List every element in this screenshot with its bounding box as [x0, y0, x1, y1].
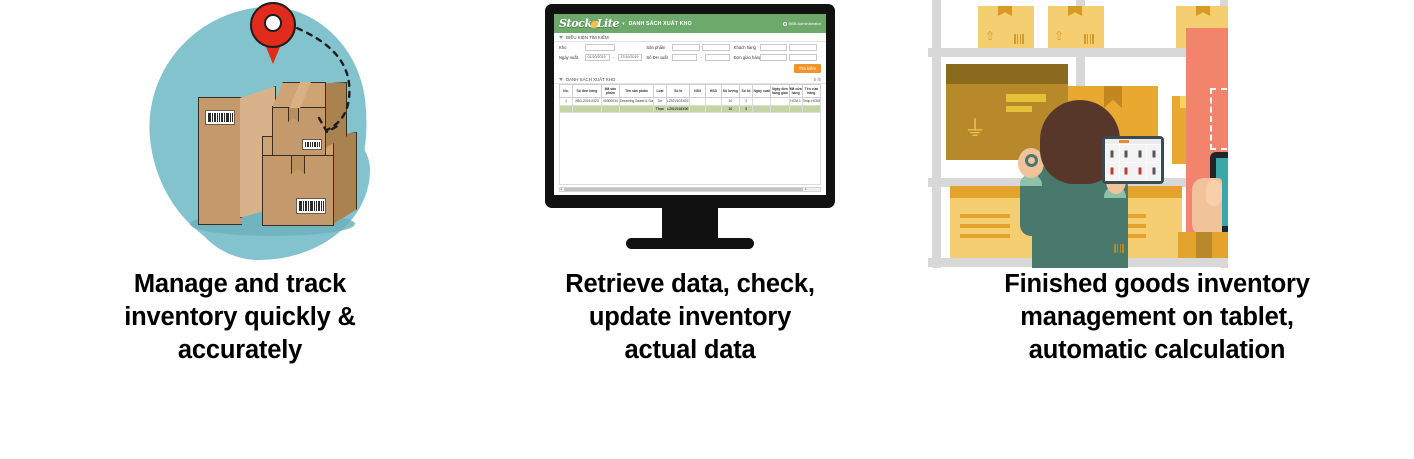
barcode-icon [205, 110, 235, 125]
cell-name [620, 105, 654, 113]
fragile-up-icon: ⇧ [1054, 30, 1064, 42]
barcode-icon [296, 198, 326, 214]
app-page-title: DANH SÁCH XUẤT KHO [629, 21, 692, 27]
location-pin-icon [250, 2, 296, 64]
illustration-boxes-with-location-pin [0, 0, 480, 268]
cell-hsd [706, 98, 722, 106]
caption-line: update inventory [484, 301, 896, 334]
feature-card-finished-goods: ⇧ ⇧ ⏚ [900, 0, 1414, 459]
range-separator: ~ [613, 55, 615, 60]
results-grid: No. Số đơn hàng Mã sản phẩm Tên sản phẩm… [554, 84, 826, 185]
monitor-bezel: StockLite ▾ DANH SÁCH XUẤT KHO BBB Admin… [545, 4, 835, 208]
barcode-icon [1114, 244, 1124, 253]
dashed-path-icon [283, 18, 393, 148]
caption-line: Retrieve data, check, [484, 268, 896, 301]
list-panel-header[interactable]: DANH SÁCH XUẤT KHO 5 /5 [554, 75, 826, 84]
illustration-monitor: StockLite ▾ DANH SÁCH XUẤT KHO BBB Admin… [480, 0, 900, 268]
user-menu[interactable]: BBB Administrator [783, 21, 821, 26]
tablet-product-cell[interactable] [1120, 145, 1133, 162]
feature-caption: Finished goods inventory management on t… [900, 268, 1414, 367]
col-header[interactable]: Mã cửa hàng [789, 85, 802, 98]
tablet-product-cell[interactable] [1147, 145, 1160, 162]
field-label: Kho [559, 45, 583, 50]
col-header[interactable]: HSD [706, 85, 722, 98]
caption-line: actual data [484, 334, 896, 367]
cell-no: 1 [560, 98, 573, 106]
sanpham-input[interactable] [672, 44, 700, 51]
cell-date [753, 98, 771, 106]
ngayxuat-from-input[interactable]: 01/10/2019 [585, 54, 610, 61]
cell-type: Thực [653, 105, 666, 113]
desktop-monitor: StockLite ▾ DANH SÁCH XUẤT KHO BBB Admin… [545, 4, 835, 249]
filter-form: Kho Sản phẩm Khách h [554, 42, 826, 63]
tablet-toolbar-chip [1119, 140, 1129, 143]
col-header[interactable]: Ngày đơn hàng giao [771, 85, 789, 98]
collapse-triangle-icon [559, 36, 563, 39]
cell-hsd [706, 105, 722, 113]
field-label: Sản phẩm [646, 45, 670, 50]
caption-line: automatic calculation [904, 334, 1410, 367]
filter-panel-title: ĐIỀU KIỆN TÌM KIẾM [566, 35, 609, 40]
cell-order [573, 105, 602, 113]
cell-code [601, 105, 619, 113]
horizontal-scrollbar[interactable]: ◂ ▸ [559, 187, 821, 192]
grid-empty-area [559, 113, 821, 185]
col-header[interactable]: Số kệ [740, 85, 753, 98]
col-header[interactable]: Ngày xuất [753, 85, 771, 98]
scrollbar-thumb[interactable] [564, 188, 803, 191]
tablet-product-cell[interactable] [1106, 145, 1119, 162]
results-table: No. Số đơn hàng Mã sản phẩm Tên sản phẩm… [559, 84, 821, 113]
caption-line: Manage and track [4, 268, 476, 301]
pallet-crate-strap [1196, 232, 1212, 258]
crate-line [960, 214, 1010, 218]
cell-nsx [690, 105, 706, 113]
scan-bracket-left [1210, 88, 1228, 150]
filter-row: Kho Sản phẩm Khách h [559, 44, 821, 51]
cell-code: 00000034 [601, 98, 619, 106]
khachhang-input[interactable] [760, 44, 788, 51]
barcode-icon [1014, 34, 1024, 44]
col-header[interactable]: No. [560, 85, 573, 98]
crate-line [960, 224, 1010, 228]
filter-field-ngayxuat: Ngày xuất 01/10/2019 ~ 17/10/2019 [559, 54, 646, 61]
worker-tablet-screen [1105, 139, 1161, 181]
kho-input[interactable] [585, 44, 615, 51]
col-header[interactable]: Số đơn hàng [573, 85, 602, 98]
record-count: 5 /5 [814, 77, 821, 82]
collapse-triangle-icon [559, 78, 563, 81]
cell-shelf: 3 [740, 98, 753, 106]
dongiaohang-input[interactable] [760, 54, 788, 61]
cell-name: Dreaming Sweet & Sour [620, 98, 654, 106]
filter-actions: Tìm kiếm [554, 63, 826, 75]
sodhxuat-to-input[interactable] [705, 54, 730, 61]
table-header-row: No. Số đơn hàng Mã sản phẩm Tên sản phẩm… [560, 85, 821, 98]
field-label: Ngày xuất [559, 55, 583, 60]
chevron-down-icon[interactable]: ▾ [622, 21, 625, 27]
tablet-product-cell[interactable] [1120, 163, 1133, 180]
cell-delivery [771, 105, 789, 113]
ok-gesture-ring [1025, 154, 1038, 167]
col-header[interactable]: Tên cửa hàng [802, 85, 820, 98]
range-separator: ~ [700, 55, 702, 60]
cell-nsx [690, 98, 706, 106]
scan-target-brackets [1210, 88, 1228, 150]
col-header[interactable]: Số lô [666, 85, 689, 98]
cell-type: Dự [653, 98, 666, 106]
monitor-neck [662, 208, 718, 238]
filter-field-kho: Kho [559, 44, 646, 51]
col-header[interactable]: Số lượng [721, 85, 739, 98]
shelf-beam [928, 48, 1228, 57]
caption-line: Finished goods inventory [904, 268, 1410, 301]
cell-lot: LZ01V102X001 [666, 98, 689, 106]
fragile-up-icon: ⇧ [985, 30, 995, 42]
cell-store-name: Shop HCM1 [802, 98, 820, 106]
search-button[interactable]: Tìm kiếm [794, 64, 821, 73]
list-panel-title: DANH SÁCH XUẤT KHO [566, 77, 615, 82]
feature-caption: Retrieve data, check, update inventory a… [480, 268, 900, 367]
user-label: BBB Administrator [789, 21, 821, 26]
coral-callout-panel [1186, 28, 1228, 242]
tablet-product-cell[interactable] [1133, 145, 1146, 162]
app-header-bar: StockLite ▾ DANH SÁCH XUẤT KHO BBB Admin… [554, 14, 826, 33]
crate-lid [946, 64, 1068, 84]
crate-line [960, 234, 1010, 238]
feature-card-retrieve-update: StockLite ▾ DANH SÁCH XUẤT KHO BBB Admin… [480, 0, 900, 459]
fragile-glass-icon: ⏚ [964, 118, 986, 140]
user-icon [783, 22, 787, 26]
cell-order: XBD-2019-0023 [573, 98, 602, 106]
tablet-product-grid [1105, 144, 1161, 181]
field-label: Đơn giao hàng [734, 55, 758, 60]
cell-store-code: HCM-1 [789, 98, 802, 106]
cell-store-code [789, 105, 802, 113]
monitor-screen: StockLite ▾ DANH SÁCH XUẤT KHO BBB Admin… [554, 14, 826, 195]
tablet-product-cell[interactable] [1147, 163, 1160, 180]
tablet-product-cell[interactable] [1133, 163, 1146, 180]
scroll-right-icon[interactable]: ▸ [805, 188, 807, 192]
app-logo[interactable]: StockLite [559, 17, 619, 30]
field-label: Khách hàng [734, 45, 758, 50]
warehouse-worker [1006, 100, 1156, 268]
table-row[interactable]: 1 XBD-2019-0023 00000034 Dreaming Sweet … [560, 98, 821, 106]
table-row-summary[interactable]: Thực LZ01V102X001 10 3 [560, 105, 821, 113]
sanpham-input-2[interactable] [702, 44, 730, 51]
caption-line: accurately [4, 334, 476, 367]
monitor-base [626, 238, 754, 249]
filter-row: Ngày xuất 01/10/2019 ~ 17/10/2019 Số ĐH … [559, 54, 821, 61]
feature-caption: Manage and track inventory quickly & acc… [0, 268, 480, 367]
cell-store-name [802, 105, 820, 113]
cell-lot: LZ01V102X001 [666, 105, 689, 113]
filter-field-khachhang: Khách hàng [734, 44, 821, 51]
warehouse-scene: ⇧ ⇧ ⏚ [928, 0, 1228, 268]
filter-field-sodhxuat: Số ĐH xuất ~ [646, 54, 733, 61]
filter-panel-header[interactable]: ĐIỀU KIỆN TÌM KIẾM [554, 33, 826, 42]
feature-board: Manage and track inventory quickly & acc… [0, 0, 1414, 459]
scroll-left-icon[interactable]: ◂ [560, 188, 562, 192]
pin-hole [264, 14, 282, 32]
col-header[interactable]: NSX [690, 85, 706, 98]
ngayxuat-to-input[interactable]: 17/10/2019 [618, 54, 643, 61]
field-label: Số ĐH xuất [646, 55, 670, 60]
app-logo-lite: Lite [597, 17, 619, 30]
caption-line: management on tablet, [904, 301, 1410, 334]
filter-field-dongiaohang: Đơn giao hàng [734, 54, 821, 61]
illustration-warehouse-worker: ⇧ ⇧ ⏚ [900, 0, 1414, 268]
caption-line: inventory quickly & [4, 301, 476, 334]
sodhxuat-from-input[interactable] [672, 54, 697, 61]
cell-qty: 10 [721, 105, 739, 113]
col-header[interactable]: Mã sản phẩm [601, 85, 619, 98]
worker-tablet[interactable] [1102, 136, 1164, 184]
filter-field-sanpham: Sản phẩm [646, 44, 733, 51]
cell-qty: 10 [721, 98, 739, 106]
col-header[interactable]: Loại [653, 85, 666, 98]
thumb [1206, 180, 1222, 206]
col-header[interactable]: Tên sản phẩm [620, 85, 654, 98]
cell-delivery [771, 98, 789, 106]
dongiaohang-input-2[interactable] [789, 54, 817, 61]
cell-no [560, 105, 573, 113]
tablet-product-cell[interactable] [1106, 163, 1119, 180]
barcode-icon [1084, 34, 1094, 44]
cell-date [753, 105, 771, 113]
khachhang-input-2[interactable] [789, 44, 817, 51]
cell-shelf: 3 [740, 105, 753, 113]
feature-card-manage-track: Manage and track inventory quickly & acc… [0, 0, 480, 459]
app-logo-stock: Stock [559, 17, 592, 30]
shelf-post [932, 0, 941, 268]
